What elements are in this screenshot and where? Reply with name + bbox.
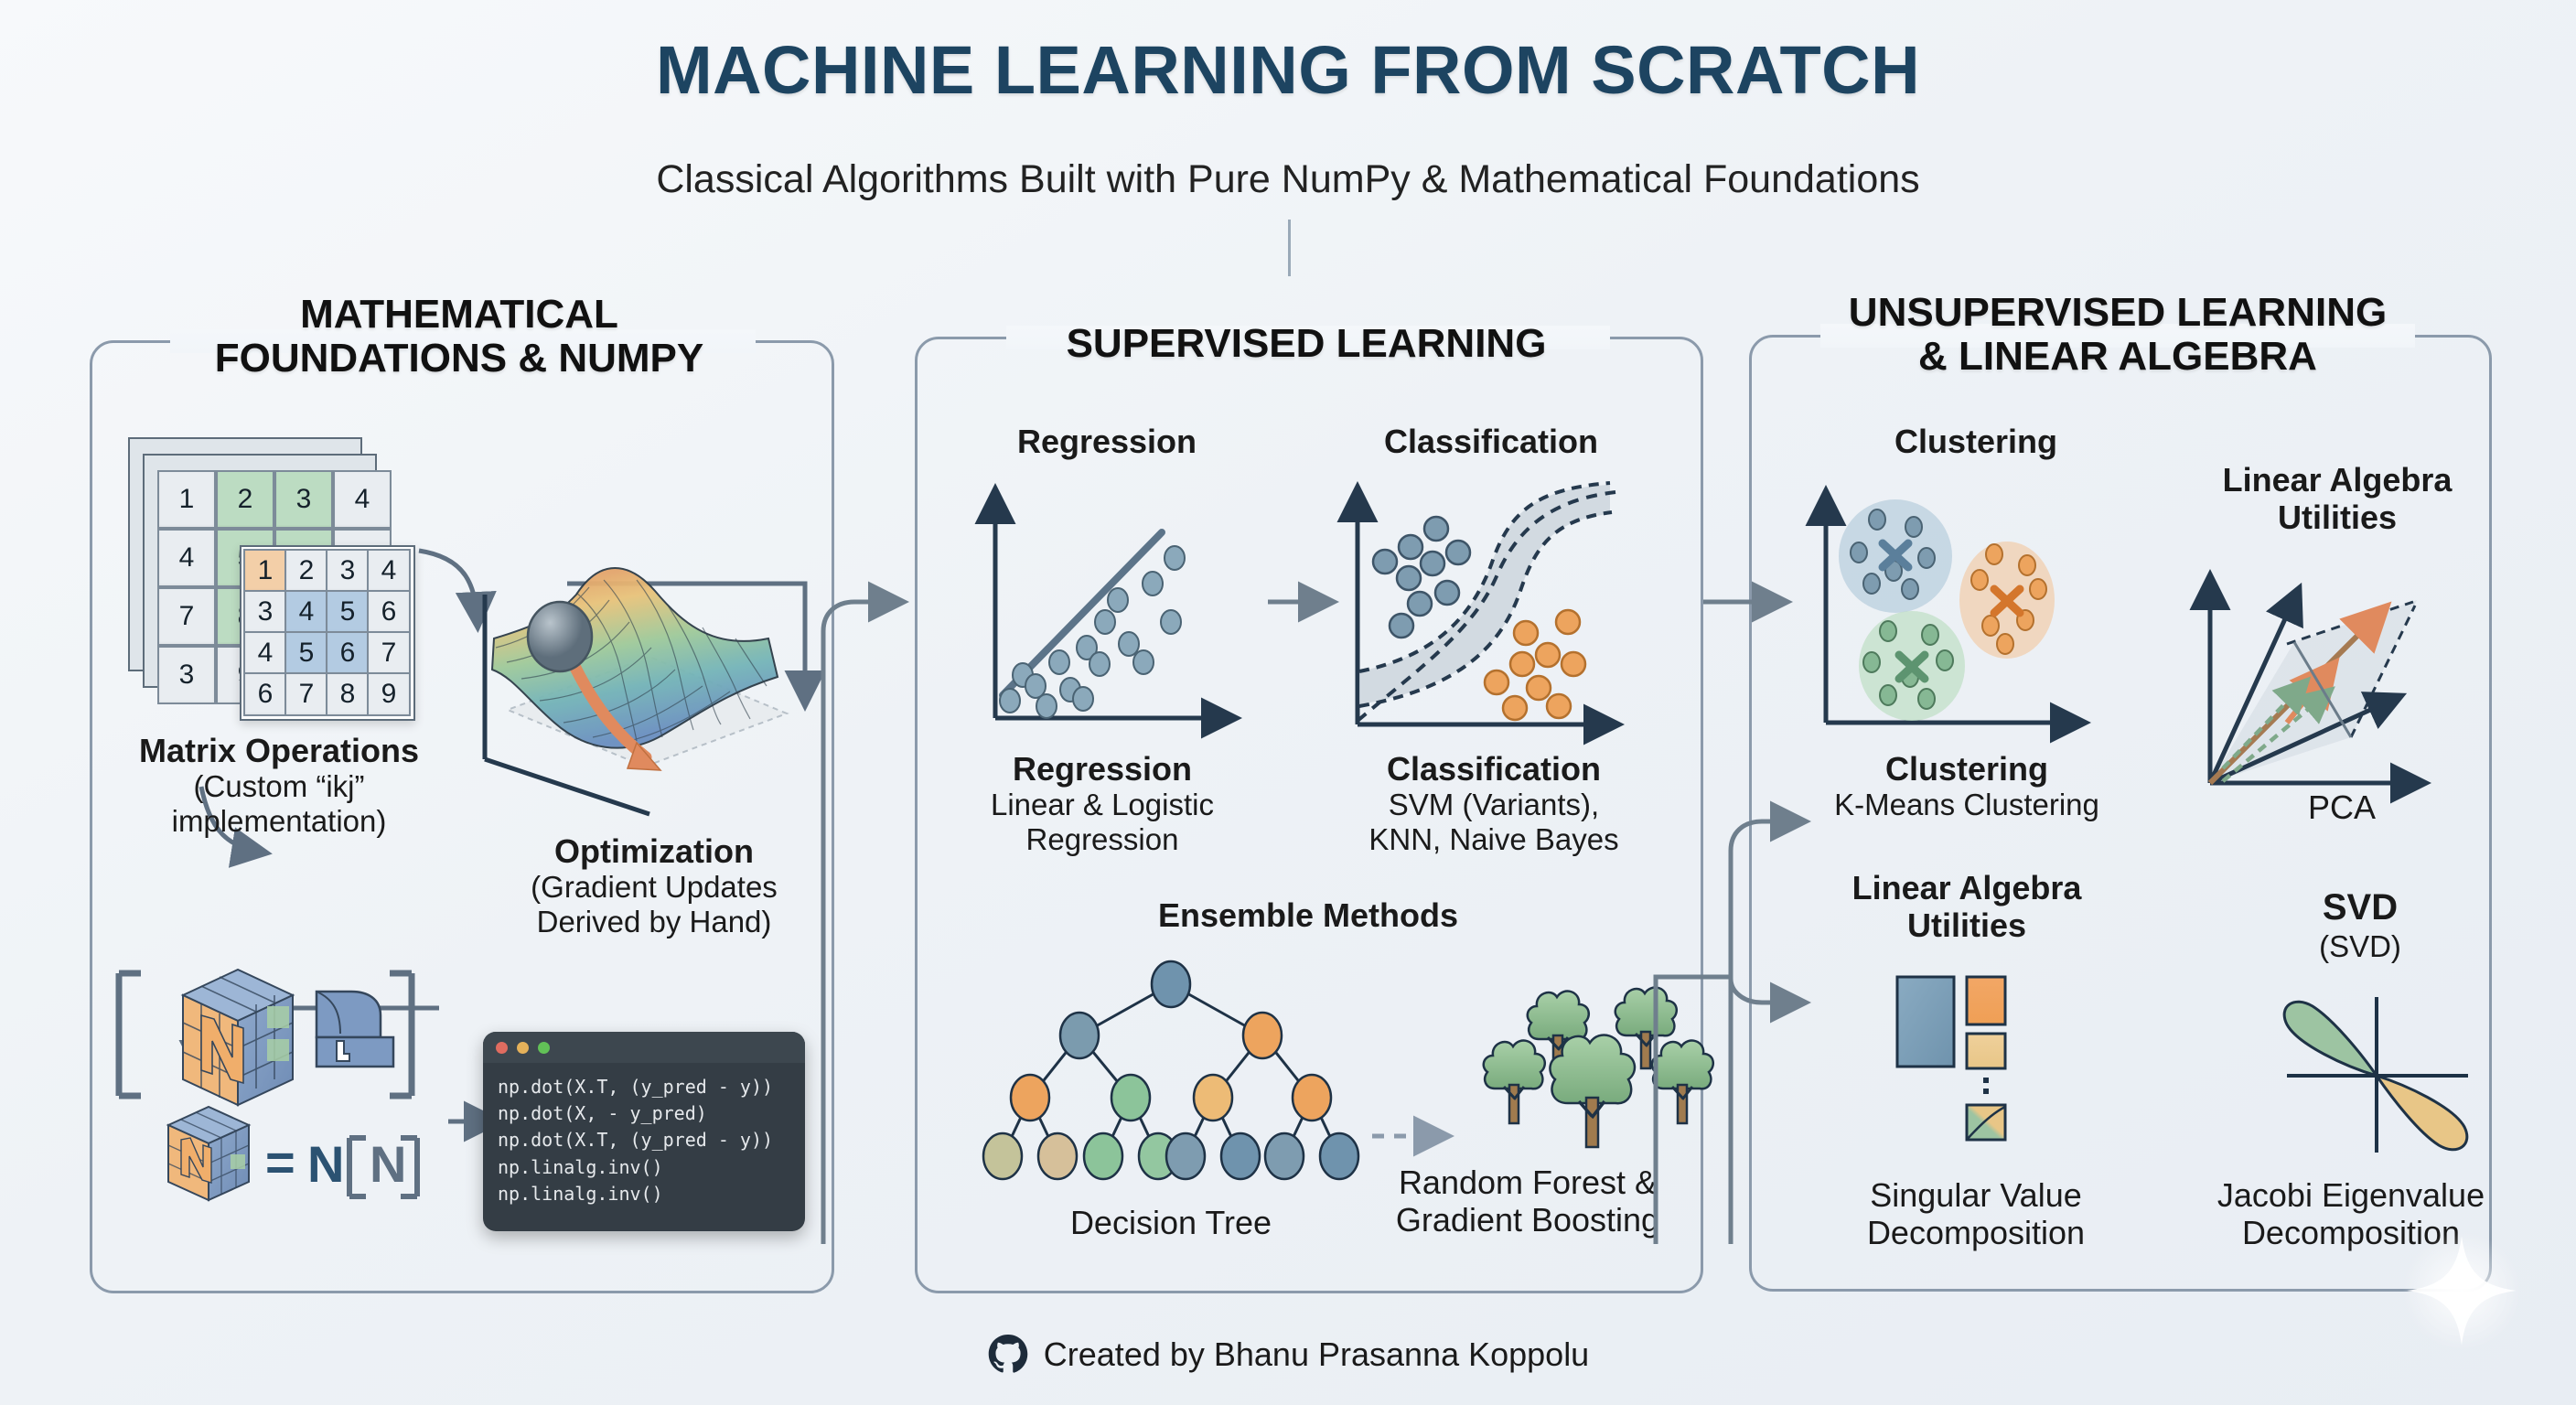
optimization-title: Optimization bbox=[476, 832, 832, 870]
panel-title-middle: SUPERVISED LEARNING bbox=[915, 322, 1698, 366]
connector-mid-to-right-jacobi bbox=[1731, 979, 1802, 1244]
panel-title-left-line2: FOUNDATIONS & NUMPY bbox=[90, 337, 829, 381]
label-optimization: Optimization (Gradient Updates Derived b… bbox=[476, 832, 832, 938]
caption-pca-text: PCA bbox=[2241, 788, 2442, 826]
numpy-cube-small bbox=[168, 1107, 249, 1200]
connector-mid-to-right-svd bbox=[1731, 821, 1802, 1244]
heading-linear-algebra-pca: Linear Algebra Utilities bbox=[2186, 461, 2488, 536]
svd-sigma-2 bbox=[1967, 1034, 2005, 1068]
svg-text:N: N bbox=[370, 1135, 406, 1193]
code-line: np.linalg.inv() bbox=[483, 1181, 805, 1220]
caption-pca: PCA bbox=[2241, 788, 2442, 826]
connector-left-to-middle bbox=[823, 602, 900, 1244]
window-minimize-dot[interactable] bbox=[517, 1042, 529, 1054]
code-line: np.linalg.inv() bbox=[483, 1154, 805, 1181]
heading-pca-l1: Linear Algebra bbox=[2186, 461, 2488, 499]
footer-credit-text: Created by Bhanu Prasanna Koppolu bbox=[1044, 1335, 1589, 1374]
code-line: np.dot(X.T, (y_pred - y)) bbox=[483, 1063, 805, 1100]
caption-jacobi-l1: Jacobi Eigenvalue bbox=[2177, 1176, 2525, 1214]
heading-pca-l2: Utilities bbox=[2186, 499, 2488, 536]
pca-vector-diagram bbox=[2195, 558, 2479, 814]
numpy-cube-large bbox=[183, 970, 293, 1105]
label-matrix-operations: Matrix Operations (Custom “ikj” implemen… bbox=[110, 732, 448, 838]
ellipsis-dot bbox=[1983, 1078, 1989, 1083]
gradient-descent-surface bbox=[476, 540, 832, 823]
numpy-logo-group: = N N bbox=[110, 951, 476, 1244]
window-close-dot[interactable] bbox=[496, 1042, 508, 1054]
code-window[interactable]: np.dot(X.T, (y_pred - y)) np.dot(X, - y_… bbox=[483, 1032, 805, 1231]
heading-svd-sub: (SVD) bbox=[2241, 929, 2479, 964]
heading-svd-title: SVD bbox=[2241, 887, 2479, 929]
bracket-open-icon bbox=[119, 973, 141, 1096]
bracket-close-icon bbox=[390, 973, 412, 1096]
page-subtitle: Classical Algorithms Built with Pure Num… bbox=[0, 157, 2576, 202]
matrix-operations-sub2: implementation) bbox=[110, 804, 448, 839]
panel-title-right-line1: UNSUPERVISED LEARNING bbox=[1749, 291, 2486, 335]
heading-classification: Classification bbox=[1336, 423, 1647, 461]
page-title: MACHINE LEARNING FROM SCRATCH bbox=[0, 31, 2576, 109]
heading-clustering: Clustering bbox=[1820, 423, 2131, 461]
equals-sign: = bbox=[265, 1133, 295, 1191]
code-line: np.dot(X, - y_pred) bbox=[483, 1100, 805, 1127]
connector-branch bbox=[1656, 977, 1731, 1244]
panel-title-right-line2: & LINEAR ALGEBRA bbox=[1749, 335, 2486, 379]
heading-regression: Regression bbox=[970, 423, 1244, 461]
matrix-operations-sub1: (Custom “ikj” bbox=[110, 769, 448, 804]
arrow-matrix-to-front bbox=[419, 551, 478, 624]
caption-jacobi: Jacobi Eigenvalue Decomposition bbox=[2177, 1176, 2525, 1251]
panel-title-left-line1: MATHEMATICAL bbox=[90, 293, 829, 337]
arrow-middle-to-right bbox=[1698, 549, 1826, 622]
panel-title-right: UNSUPERVISED LEARNING & LINEAR ALGEBRA bbox=[1749, 291, 2486, 378]
heading-svd: SVD (SVD) bbox=[2241, 887, 2479, 963]
eigen-lobe-green bbox=[2284, 1002, 2377, 1076]
matrix-operations-title: Matrix Operations bbox=[110, 732, 448, 769]
optimization-sub1: (Gradient Updates bbox=[476, 870, 832, 905]
optimization-sub2: Derived by Hand) bbox=[476, 905, 832, 939]
window-maximize-dot[interactable] bbox=[538, 1042, 550, 1054]
eigen-lobe-tan bbox=[2377, 1076, 2467, 1150]
header-connector-stem bbox=[1288, 220, 1291, 276]
svd-sigma-1 bbox=[1967, 977, 2005, 1024]
caption-jacobi-l2: Decomposition bbox=[2177, 1214, 2525, 1251]
jacobi-eigenvalue-diagram bbox=[2269, 988, 2497, 1180]
panel-title-left: MATHEMATICAL FOUNDATIONS & NUMPY bbox=[90, 293, 829, 380]
footer-credit: Created by Bhanu Prasanna Koppolu bbox=[0, 1334, 2576, 1376]
numpy-array-block-icon bbox=[317, 992, 393, 1067]
github-icon[interactable] bbox=[987, 1334, 1029, 1376]
numpy-n-text: N bbox=[307, 1135, 344, 1193]
ellipsis-dot bbox=[1983, 1089, 1989, 1094]
panel-connectors bbox=[805, 549, 1948, 1244]
code-line: np.dot(X.T, (y_pred - y)) bbox=[483, 1127, 805, 1153]
code-window-titlebar bbox=[483, 1032, 805, 1063]
